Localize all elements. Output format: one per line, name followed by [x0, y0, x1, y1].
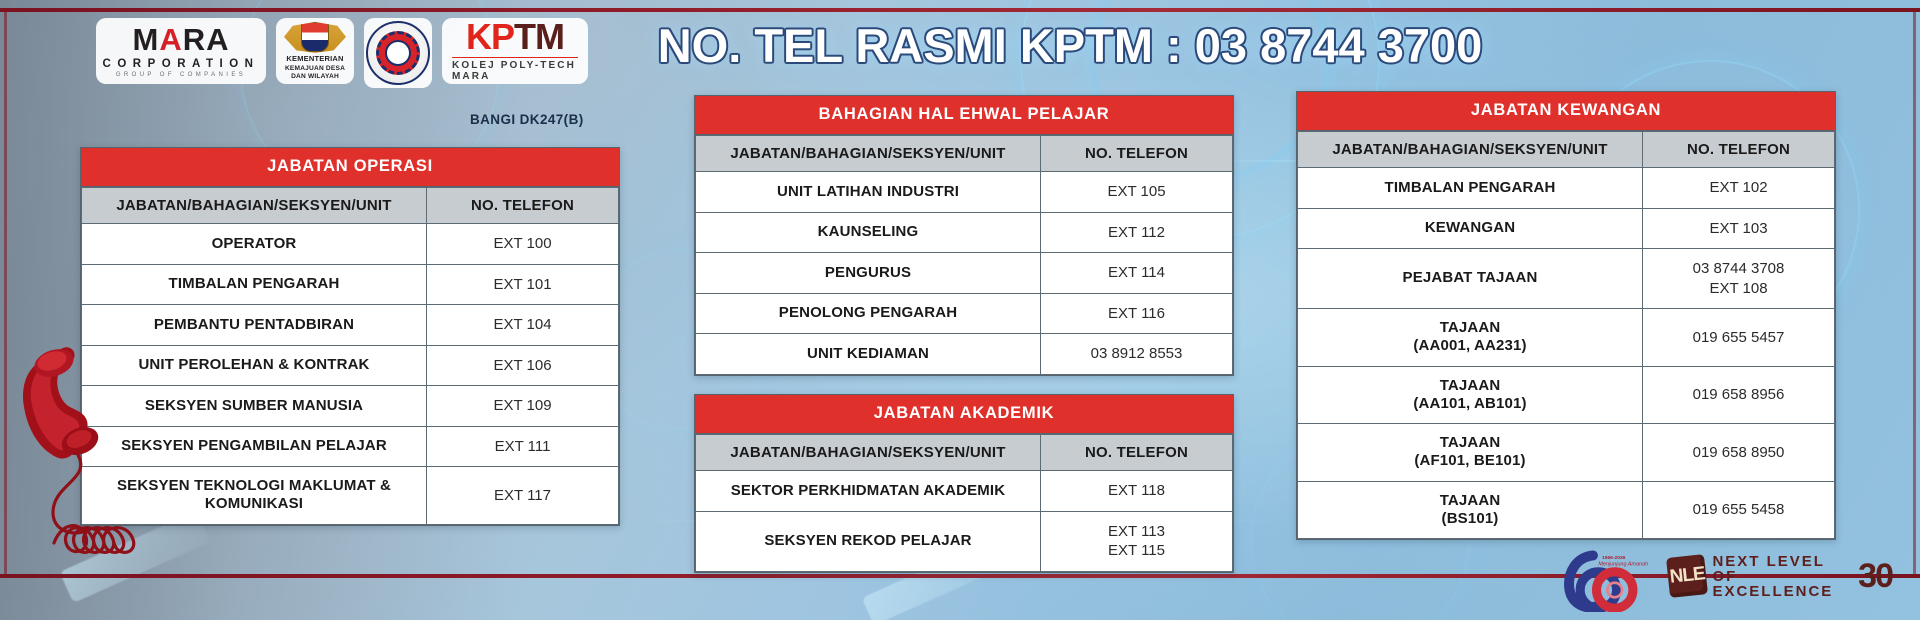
column-header-department: JABATAN/BAHAGIAN/SEKSYEN/UNIT [1298, 132, 1643, 168]
table-row: TAJAAN(AA101, AB101)019 658 8956 [1298, 366, 1835, 424]
column-header-telephone: NO. TELEFON [1041, 435, 1233, 471]
cell-telephone: EXT 118 [1041, 471, 1233, 512]
cell-department: OPERATOR [82, 224, 427, 265]
cell-department: TAJAAN(AA001, AA231) [1298, 309, 1643, 367]
svg-text:Menjunjung Amanah: Menjunjung Amanah [1598, 561, 1648, 567]
table-bahagian-hal-ehwal-pelajar: BAHAGIAN HAL EHWAL PELAJAR JABATAN/BAHAG… [694, 95, 1234, 376]
kptm-wordmark-text: KPTM [466, 16, 564, 57]
ministry-label-line1: KEMENTERIAN [286, 55, 343, 63]
shield-icon [301, 22, 329, 52]
gear-icon [376, 31, 420, 75]
table-row: UNIT LATIHAN INDUSTRIEXT 105 [696, 172, 1233, 213]
cell-department: PENGURUS [696, 253, 1041, 294]
column-header-department: JABATAN/BAHAGIAN/SEKSYEN/UNIT [82, 188, 427, 224]
anniversary-60-logo: 1966-2026 Menjunjung Amanah [1562, 548, 1662, 612]
seal-center-icon [385, 40, 411, 66]
table-header-row: JABATAN/BAHAGIAN/SEKSYEN/UNIT NO. TELEFO… [696, 136, 1233, 172]
cell-telephone: 019 658 8950 [1643, 424, 1835, 482]
nle-line-2: EXCELLENCE [1712, 584, 1850, 599]
table-grid: JABATAN/BAHAGIAN/SEKSYEN/UNIT NO. TELEFO… [695, 434, 1233, 572]
cell-department: PEMBANTU PENTADBIRAN [82, 305, 427, 346]
mara-wordmark-text: MARA [133, 22, 230, 57]
cell-department: TAJAAN(AF101, BE101) [1298, 424, 1643, 482]
cell-telephone: 019 655 5458 [1643, 481, 1835, 539]
table-title: BAHAGIAN HAL EHWAL PELAJAR [695, 96, 1233, 135]
cell-department: KEWANGAN [1298, 208, 1643, 249]
cell-department: PENOLONG PENGARAH [696, 293, 1041, 334]
cell-telephone: EXT 103 [1643, 208, 1835, 249]
table-row: PENOLONG PENGARAHEXT 116 [696, 293, 1233, 334]
next-level-of-excellence-logo: NLE NEXT LEVEL OF EXCELLENCE 30 [1668, 554, 1892, 598]
cell-telephone: EXT 100 [427, 224, 619, 265]
cell-department: UNIT KEDIAMAN [696, 334, 1041, 375]
nle-years-label: 30 [1858, 557, 1892, 596]
table-header-row: JABATAN/BAHAGIAN/SEKSYEN/UNIT NO. TELEFO… [696, 435, 1233, 471]
seal-ring-icon [366, 21, 430, 85]
table-row: TIMBALAN PENGARAHEXT 101 [82, 264, 619, 305]
table-row: PENGURUSEXT 114 [696, 253, 1233, 294]
cell-department: TAJAAN(BS101) [1298, 481, 1643, 539]
mara-corporation-label: CORPORATION [103, 58, 260, 70]
frame-line-left [4, 8, 7, 578]
table-grid: JABATAN/BAHAGIAN/SEKSYEN/UNIT NO. TELEFO… [1297, 131, 1835, 539]
table-row: TAJAAN(AF101, BE101)019 658 8950 [1298, 424, 1835, 482]
cell-department: SEKSYEN REKOD PELAJAR [696, 511, 1041, 571]
cell-telephone: EXT 117 [427, 467, 619, 525]
cell-telephone: EXT 112 [1041, 212, 1233, 253]
cell-telephone: 019 655 5457 [1643, 309, 1835, 367]
page-title: NO. TEL RASMI KPTM : 03 8744 3700 [620, 18, 1520, 73]
cell-department: SEKTOR PERKHIDMATAN AKADEMIK [696, 471, 1041, 512]
cell-department: TIMBALAN PENGARAH [82, 264, 427, 305]
kptm-logo: KPTM KOLEJ POLY-TECH MARA [442, 18, 588, 84]
nle-cube-icon: NLE [1666, 554, 1708, 598]
table-title: JABATAN OPERASI [81, 148, 619, 187]
coat-of-arms-icon [284, 22, 346, 53]
cell-telephone: 03 8912 8553 [1041, 334, 1233, 375]
table-grid: JABATAN/BAHAGIAN/SEKSYEN/UNIT NO. TELEFO… [695, 135, 1233, 375]
mara-corporation-logo: MARA CORPORATION GROUP OF COMPANIES [96, 18, 266, 84]
cell-department: KAUNSELING [696, 212, 1041, 253]
table-body: SEKTOR PERKHIDMATAN AKADEMIKEXT 118SEKSY… [696, 471, 1233, 572]
cell-telephone: EXT 101 [427, 264, 619, 305]
cell-telephone: 03 8744 3708EXT 108 [1643, 249, 1835, 309]
kptm-wordmark: KPTM [466, 20, 564, 54]
ministry-label-line2: KEMAJUAN DESA DAN WILAYAH [282, 65, 348, 80]
cell-department: TIMBALAN PENGARAH [1298, 168, 1643, 209]
column-header-department: JABATAN/BAHAGIAN/SEKSYEN/UNIT [696, 435, 1041, 471]
cell-department: TAJAAN(AA101, AB101) [1298, 366, 1643, 424]
table-header-row: JABATAN/BAHAGIAN/SEKSYEN/UNIT NO. TELEFO… [82, 188, 619, 224]
majlis-amanah-rakyat-seal [364, 18, 432, 88]
cell-telephone: EXT 106 [427, 345, 619, 386]
table-title: JABATAN KEWANGAN [1297, 92, 1835, 131]
table-row: TIMBALAN PENGARAHEXT 102 [1298, 168, 1835, 209]
mara-wordmark: MARA [133, 24, 230, 55]
kptm-sub-label: KOLEJ POLY-TECH MARA [452, 57, 578, 82]
column-header-telephone: NO. TELEFON [1643, 132, 1835, 168]
table-row: TAJAAN(BS101)019 655 5458 [1298, 481, 1835, 539]
cell-telephone: EXT 116 [1041, 293, 1233, 334]
table-body: TIMBALAN PENGARAHEXT 102KEWANGANEXT 103P… [1298, 168, 1835, 539]
logo-row: MARA CORPORATION GROUP OF COMPANIES KEME… [96, 18, 588, 88]
table-body: UNIT LATIHAN INDUSTRIEXT 105KAUNSELINGEX… [696, 172, 1233, 375]
nle-text-block: NEXT LEVEL OF EXCELLENCE [1712, 554, 1850, 599]
column-header-telephone: NO. TELEFON [1041, 136, 1233, 172]
svg-text:1966-2026: 1966-2026 [1602, 555, 1626, 561]
table-row: SEKTOR PERKHIDMATAN AKADEMIKEXT 118 [696, 471, 1233, 512]
telephone-handset-illustration [8, 345, 178, 595]
table-jabatan-akademik: JABATAN AKADEMIK JABATAN/BAHAGIAN/SEKSYE… [694, 394, 1234, 573]
table-header-row: JABATAN/BAHAGIAN/SEKSYEN/UNIT NO. TELEFO… [1298, 132, 1835, 168]
table-row: PEJABAT TAJAAN03 8744 3708EXT 108 [1298, 249, 1835, 309]
cell-department: PEJABAT TAJAAN [1298, 249, 1643, 309]
column-header-telephone: NO. TELEFON [427, 188, 619, 224]
malaysia-coat-of-arms-logo: KEMENTERIAN KEMAJUAN DESA DAN WILAYAH [276, 18, 354, 84]
cell-telephone: EXT 109 [427, 386, 619, 427]
cell-telephone: EXT 105 [1041, 172, 1233, 213]
column-header-department: JABATAN/BAHAGIAN/SEKSYEN/UNIT [696, 136, 1041, 172]
table-title: JABATAN AKADEMIK [695, 395, 1233, 434]
table-row: PEMBANTU PENTADBIRANEXT 104 [82, 305, 619, 346]
table-jabatan-kewangan: JABATAN KEWANGAN JABATAN/BAHAGIAN/SEKSYE… [1296, 91, 1836, 540]
cell-telephone: EXT 113EXT 115 [1041, 511, 1233, 571]
cell-telephone: EXT 114 [1041, 253, 1233, 294]
table-row: KAUNSELINGEXT 112 [696, 212, 1233, 253]
campus-code-label: BANGI DK247(B) [470, 112, 584, 127]
poster-canvas: MARA CORPORATION GROUP OF COMPANIES KEME… [0, 0, 1920, 620]
table-row: SEKSYEN REKOD PELAJAREXT 113EXT 115 [696, 511, 1233, 571]
mara-group-label: GROUP OF COMPANIES [116, 72, 246, 78]
table-row: OPERATOREXT 100 [82, 224, 619, 265]
cell-department: UNIT LATIHAN INDUSTRI [696, 172, 1041, 213]
table-row: KEWANGANEXT 103 [1298, 208, 1835, 249]
cell-telephone: EXT 104 [427, 305, 619, 346]
frame-line-right [1913, 8, 1916, 578]
nle-line-1: NEXT LEVEL OF [1712, 554, 1850, 584]
table-row: TAJAAN(AA001, AA231)019 655 5457 [1298, 309, 1835, 367]
cell-telephone: EXT 111 [427, 426, 619, 467]
frame-line-top [0, 8, 1920, 12]
cell-telephone: 019 658 8956 [1643, 366, 1835, 424]
table-row: UNIT KEDIAMAN03 8912 8553 [696, 334, 1233, 375]
cell-telephone: EXT 102 [1643, 168, 1835, 209]
